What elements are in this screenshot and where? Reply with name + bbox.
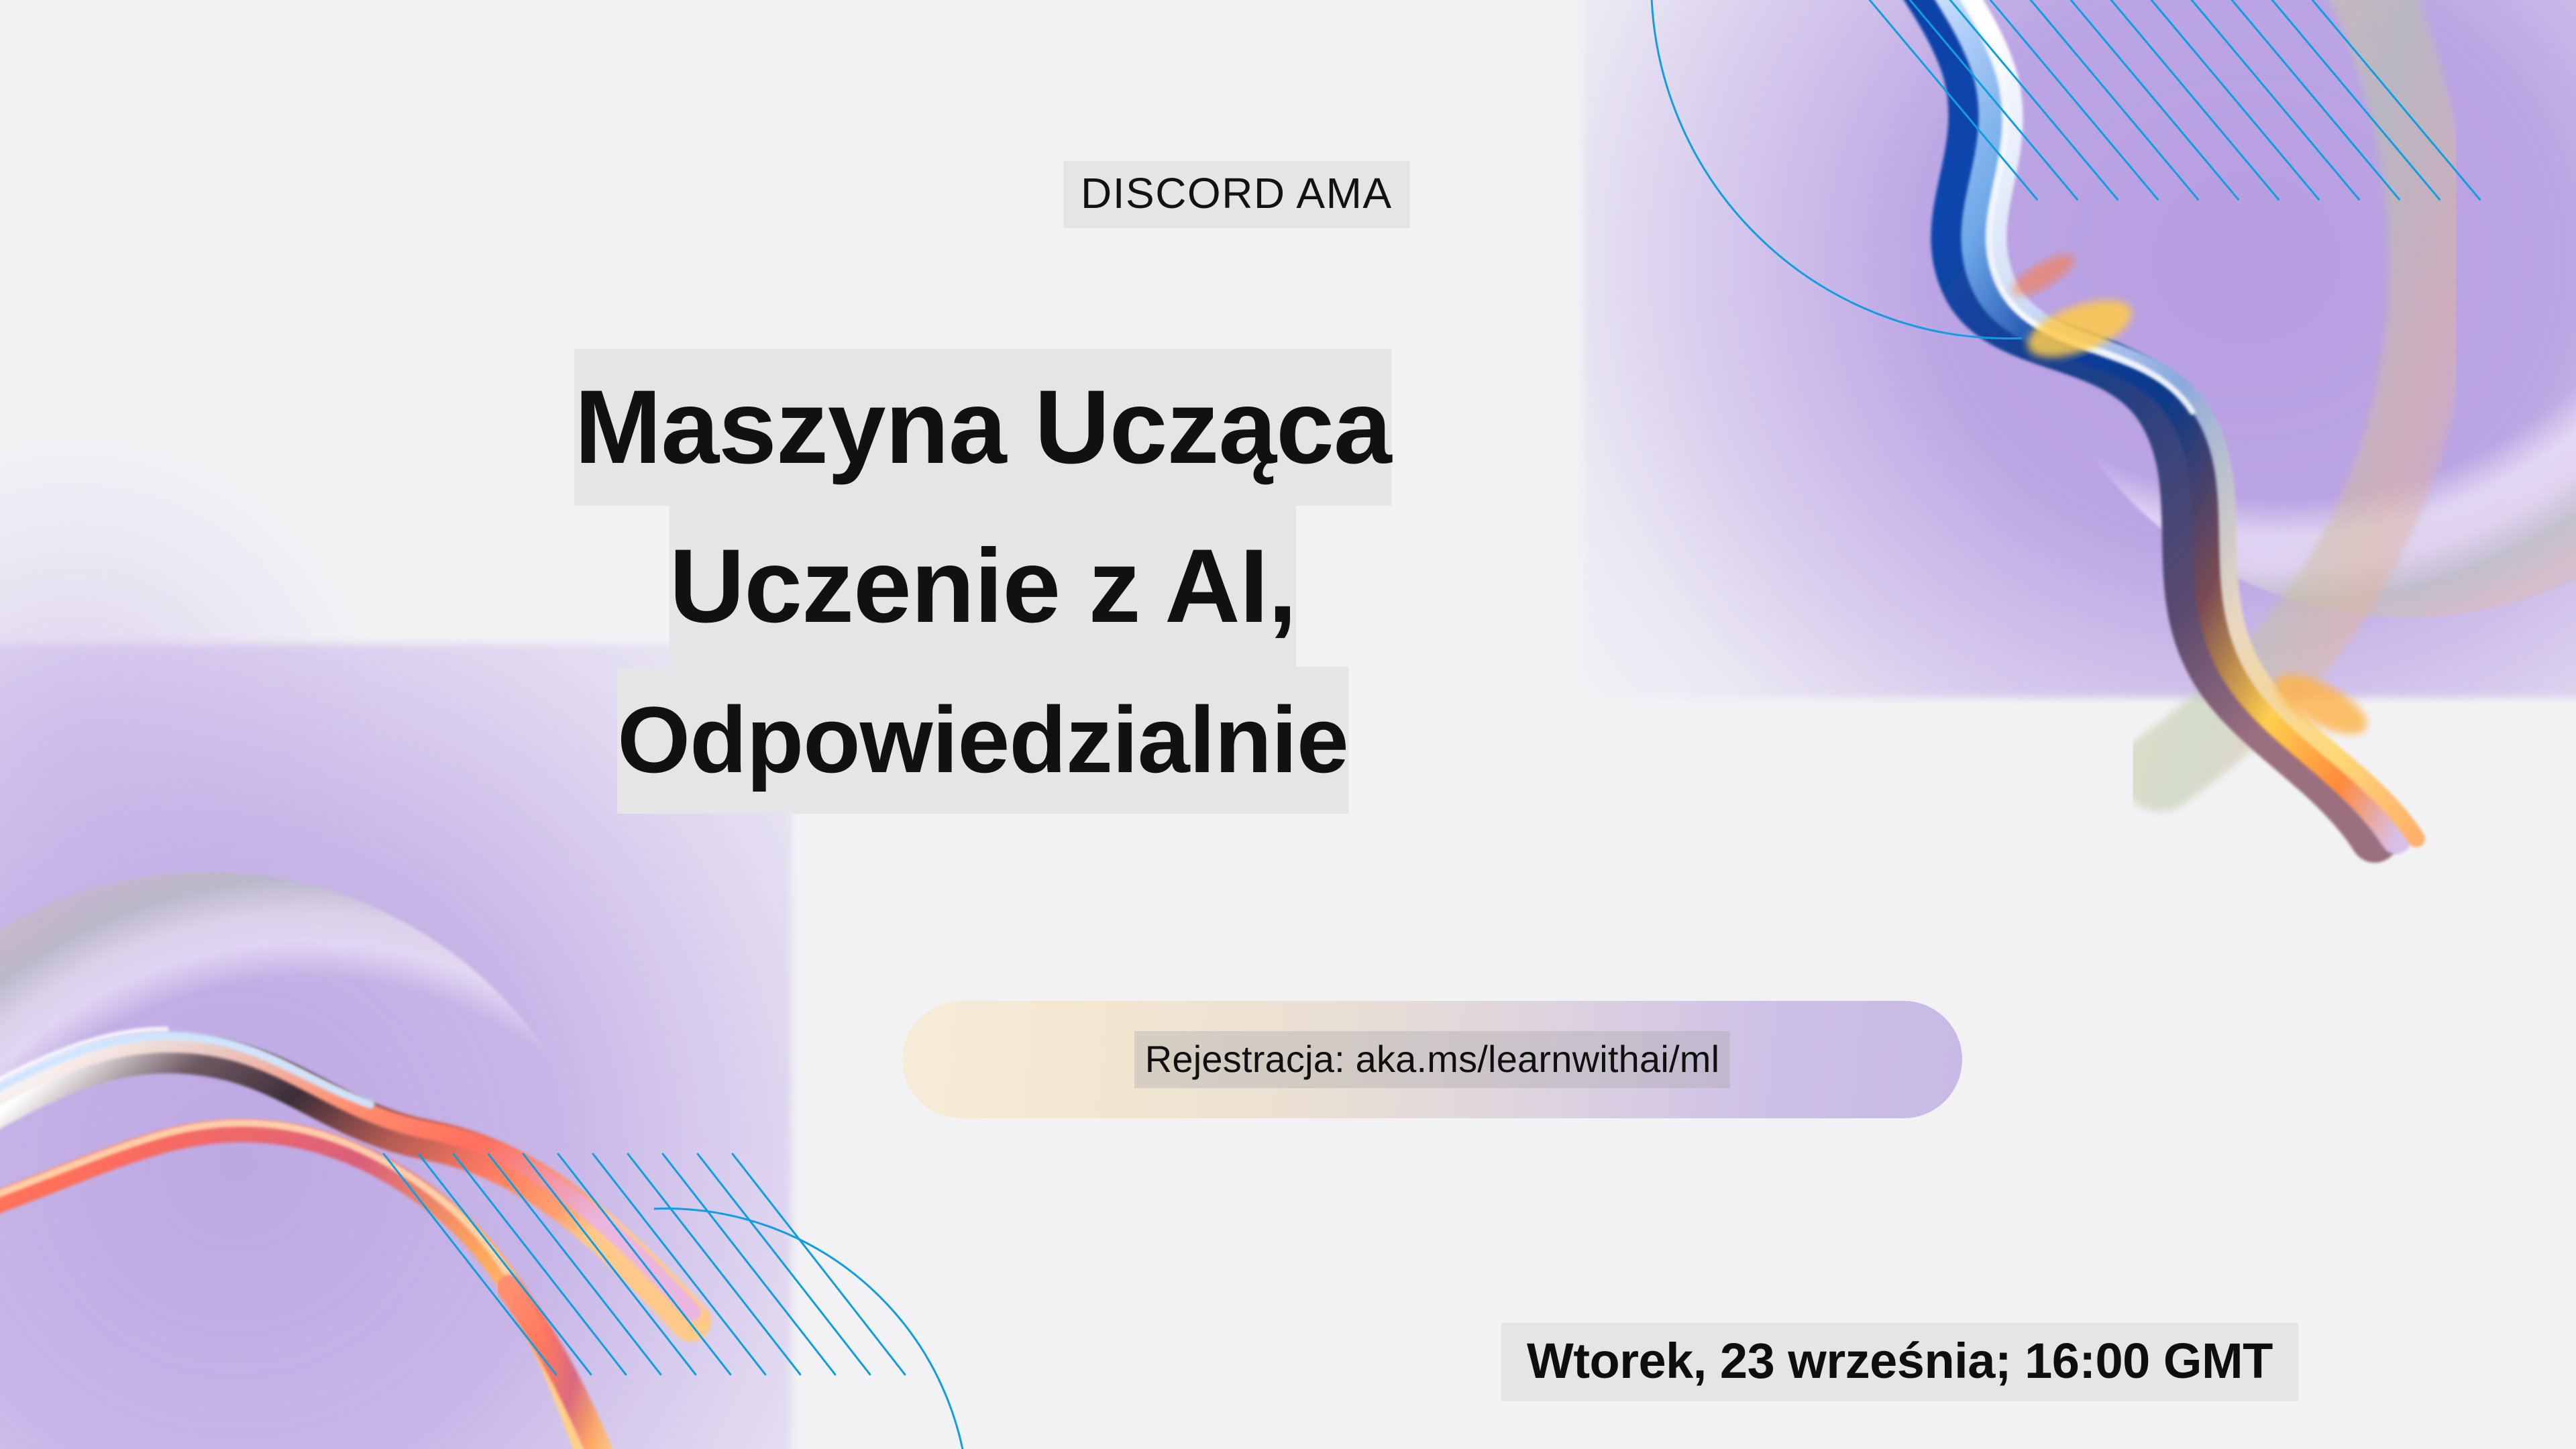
headline-line-2: Uczenie z AI, xyxy=(669,506,1297,667)
eyebrow-label: DISCORD AMA xyxy=(1063,161,1410,228)
headline-line-1: Maszyna Ucząca xyxy=(574,349,1391,506)
registration-button[interactable]: Rejestracja: aka.ms/learnwithai/ml xyxy=(902,1001,1962,1118)
event-datetime: Wtorek, 23 września; 16:00 GMT xyxy=(1501,1323,2298,1401)
page-title: Maszyna Ucząca Uczenie z AI, Odpowiedzia… xyxy=(0,349,1966,814)
registration-button-label: Rejestracja: aka.ms/learnwithai/ml xyxy=(1134,1031,1730,1088)
poster-canvas: DISCORD AMA Maszyna Ucząca Uczenie z AI,… xyxy=(0,0,2576,1449)
headline-line-3: Odpowiedzialnie xyxy=(617,667,1348,813)
